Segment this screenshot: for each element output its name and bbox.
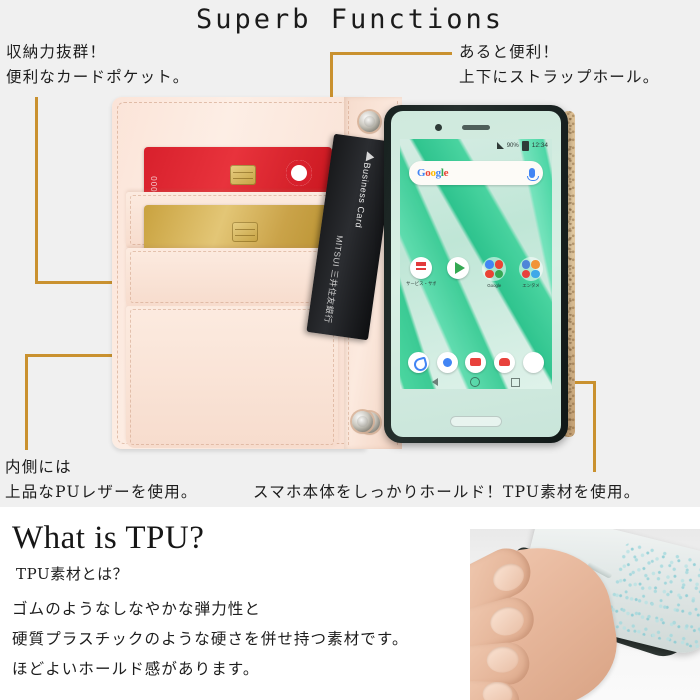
home-icon[interactable]	[470, 377, 480, 387]
back-icon[interactable]	[432, 378, 438, 386]
leader-line-strap-hole-horizontal	[330, 52, 452, 55]
tpu-body-line1: ゴムのようなしなやかな弾力性と	[12, 594, 409, 624]
phone-icon[interactable]	[408, 352, 429, 373]
phone-front-panel: 90% 12:34 Google サービス・サポートのご案内	[391, 111, 561, 437]
app-label-google-folder: Google	[479, 283, 509, 288]
status-bar: 90% 12:34	[400, 139, 552, 152]
clock-label: 12:34	[532, 142, 548, 149]
card-pocket-middle	[126, 248, 338, 306]
battery-percent-label: 90%	[507, 143, 519, 149]
tpu-body-line3: ほどよいホールド感があります。	[12, 654, 409, 684]
tpu-subheading: TPU素材とは？	[16, 563, 128, 584]
annotation-strap-hole: あると便利！ 上下にストラップホール。	[459, 40, 659, 90]
home-key[interactable]	[450, 416, 502, 427]
infographic-page: Superb Functions 収納力抜群！ 便利なカードポケット。 あると便…	[0, 0, 700, 700]
front-camera-icon	[435, 124, 442, 131]
google-search-bar[interactable]: Google	[409, 161, 543, 185]
messages-icon[interactable]	[465, 352, 486, 373]
mic-icon[interactable]	[529, 168, 535, 178]
phone-screen: 90% 12:34 Google サービス・サポートのご案内	[400, 139, 552, 389]
case-closure-snap	[352, 411, 373, 432]
product-photo-wallet-case: 0000 Business Card MITSUI 三井住友銀行	[112, 95, 582, 452]
business-card-bank-name: MITSUI 三井住友銀行	[322, 235, 346, 324]
leader-line-card-pocket-vertical	[35, 97, 38, 284]
tpu-heading: What is TPU?	[12, 520, 204, 557]
app-icon-document[interactable]: サービス・サポートのご案内	[406, 257, 436, 286]
navigation-bar	[400, 375, 552, 389]
app-dock	[400, 352, 552, 373]
annotation-strap-hole-line2: 上下にストラップホール。	[459, 65, 659, 90]
credit-card-red-chip	[230, 165, 256, 185]
mail-icon[interactable]	[494, 352, 515, 373]
app-label-entertainment: エンタメ	[516, 283, 546, 288]
leader-line-tpu-hold-vertical	[593, 381, 596, 472]
smartphone: 90% 12:34 Google サービス・サポートのご案内	[384, 105, 568, 443]
annotation-card-pocket: 収納力抜群！ 便利なカードポケット。	[6, 40, 189, 90]
annotation-card-pocket-line2: 便利なカードポケット。	[6, 65, 189, 90]
business-card-label: Business Card	[353, 162, 372, 229]
app-icon-play-store[interactable]	[443, 257, 473, 281]
play-store-icon	[447, 257, 469, 279]
business-card-triangle-icon	[366, 151, 375, 162]
app-label-document: サービス・サポートのご案内	[406, 281, 436, 286]
annotation-tpu-hold: スマホ本体をしっかりホールド！TPU素材を使用。	[253, 480, 640, 505]
recents-icon[interactable]	[511, 378, 520, 387]
tpu-explainer-section: What is TPU? TPU素材とは？ ゴムのようなしなやかな弾力性と 硬質…	[0, 507, 700, 700]
annotation-strap-hole-line1: あると便利！	[459, 43, 559, 61]
document-icon	[410, 257, 432, 279]
google-folder-icon	[482, 257, 506, 281]
credit-card-gold-chip	[232, 222, 258, 242]
strap-hole-snap-top	[359, 111, 380, 132]
annotation-pu-leather: 内側には 上品なPUレザーを使用。	[5, 455, 198, 505]
features-section: Superb Functions 収納力抜群！ 便利なカードポケット。 あると便…	[0, 0, 700, 507]
credit-card-red-logo	[286, 160, 312, 186]
tpu-body-text: ゴムのようなしなやかな弾力性と 硬質プラスチックのような硬さを併せ持つ素材です。…	[12, 594, 409, 684]
annotation-pu-leather-line1: 内側には	[5, 458, 72, 476]
app-folder-entertainment[interactable]: エンタメ	[516, 257, 546, 288]
annotation-pu-leather-line2: 上品なPUレザーを使用。	[5, 480, 198, 505]
signal-icon	[497, 142, 504, 149]
annotation-tpu-hold-line1: スマホ本体をしっかりホールド！TPU素材を使用。	[253, 483, 640, 501]
tpu-body-line2: 硬質プラスチックのような硬さを併せ持つ素材です。	[12, 624, 409, 654]
app-folder-google[interactable]: Google	[479, 257, 509, 288]
battery-icon	[522, 141, 529, 151]
google-logo: Google	[417, 167, 448, 179]
app-grid: サービス・サポートのご案内 Goog	[406, 257, 546, 288]
camera-icon[interactable]	[523, 352, 544, 373]
earpiece-speaker	[462, 125, 490, 130]
tpu-flex-demo-photo	[470, 529, 700, 700]
chrome-icon[interactable]	[437, 352, 458, 373]
entertainment-folder-icon	[519, 257, 543, 281]
annotation-card-pocket-line1: 収納力抜群！	[6, 43, 106, 61]
page-title: Superb Functions	[0, 4, 700, 35]
leader-line-pu-leather-vertical	[25, 354, 28, 450]
